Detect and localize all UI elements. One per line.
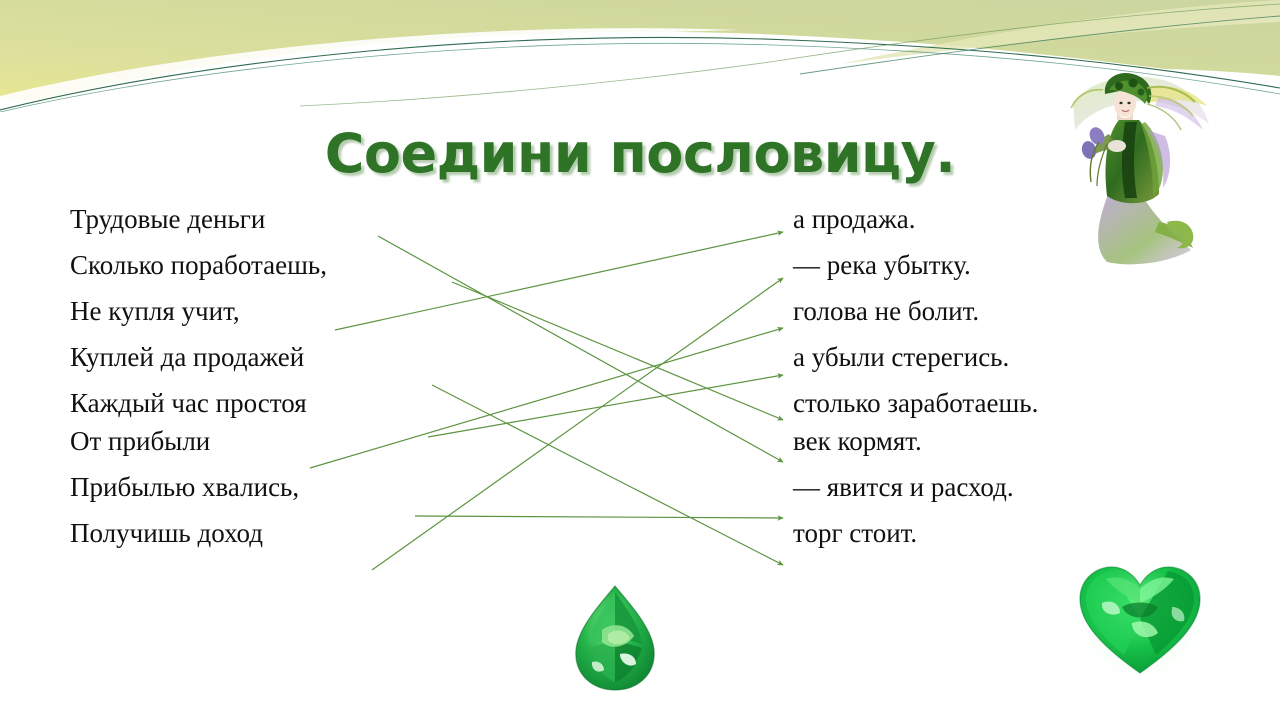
- heart-cut-emerald-image: [1062, 545, 1217, 690]
- list-item[interactable]: Куплей да продажей: [70, 344, 490, 390]
- proverb-beginning-text: Куплей да продажей: [70, 344, 304, 371]
- proverb-ending-text: а убыли стерегись.: [793, 344, 1009, 371]
- list-item[interactable]: От прибыли: [70, 428, 490, 474]
- proverb-beginning-text: От прибыли: [70, 428, 210, 455]
- proverb-beginning-text: Прибылью хвались,: [70, 474, 299, 501]
- list-item[interactable]: век кормят.: [793, 428, 1213, 474]
- proverb-beginning-text: Получишь доход: [70, 520, 263, 547]
- proverb-beginning-text: Не купля учит,: [70, 298, 240, 325]
- list-item[interactable]: столько заработаешь.: [793, 390, 1213, 428]
- connector-line[interactable]: [452, 282, 783, 420]
- pear-cut-emerald-image: [556, 578, 674, 698]
- proverb-ending-text: век кормят.: [793, 428, 922, 455]
- proverb-ending-text: торг стоит.: [793, 520, 917, 547]
- proverb-beginning-text: Сколько поработаешь,: [70, 252, 327, 279]
- list-item[interactable]: — явится и расход.: [793, 474, 1213, 520]
- proverb-ending-text: голова не болит.: [793, 298, 979, 325]
- proverb-beginning-text: Каждый час простоя: [70, 390, 307, 417]
- proverb-ending-text: — явится и расход.: [793, 474, 1014, 501]
- mistress-of-copper-mountain-illustration: [1063, 72, 1213, 267]
- list-item[interactable]: Прибылью хвались,: [70, 474, 490, 520]
- list-item[interactable]: Не купля учит,: [70, 298, 490, 344]
- list-item[interactable]: Каждый час простоя: [70, 390, 490, 428]
- list-item[interactable]: Трудовые деньги: [70, 206, 490, 252]
- proverb-ending-text: столько заработаешь.: [793, 390, 1038, 417]
- proverb-ending-text: — река убытку.: [793, 252, 971, 279]
- list-item[interactable]: Получишь доход: [70, 520, 490, 566]
- proverb-beginning-text: Трудовые деньги: [70, 206, 265, 233]
- proverb-ending-text: а продажа.: [793, 206, 916, 233]
- list-item[interactable]: голова не болит.: [793, 298, 1213, 344]
- list-item[interactable]: а убыли стерегись.: [793, 344, 1213, 390]
- slide-canvas: Соедини пословицу. Трудовые деньги Сколь…: [0, 0, 1280, 720]
- list-item[interactable]: Сколько поработаешь,: [70, 252, 490, 298]
- proverb-beginnings-column: Трудовые деньги Сколько поработаешь, Не …: [70, 206, 490, 566]
